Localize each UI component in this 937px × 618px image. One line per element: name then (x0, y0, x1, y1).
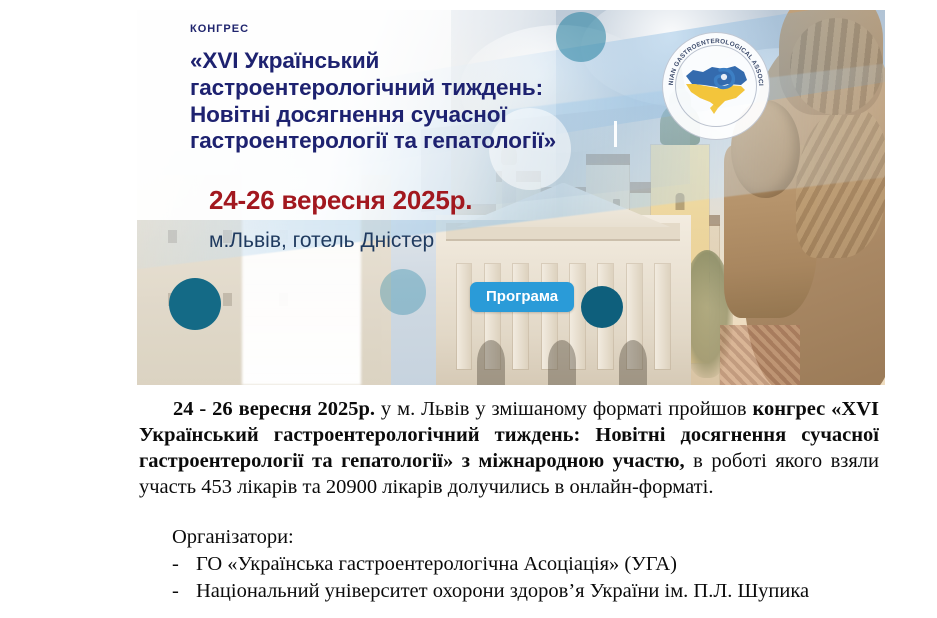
organizers-section: Організатори: -ГО «Українська гастроенте… (0, 524, 937, 605)
paragraph-bold-run: 24 - 26 вересня 2025р. (173, 398, 375, 420)
organizer-name: ГО «Українська гастроентерологічна Асоці… (196, 551, 937, 578)
teal-circle-translucent (380, 269, 426, 315)
congress-banner[interactable]: UKRAINIAN GASTROENTEROLOGICAL ASSOCIATIO… (137, 10, 885, 385)
banner-kicker: КОНГРЕС (190, 23, 249, 35)
paragraph-text-run: у м. Львів у змішаному форматі пройшов (375, 398, 752, 420)
document-body: 24 - 26 вересня 2025р. у м. Львів у зміш… (0, 396, 937, 605)
report-paragraph: 24 - 26 вересня 2025р. у м. Львів у зміш… (0, 396, 937, 500)
teal-circle-solid (581, 286, 623, 328)
banner-headline: «XVI Український гастроентерологічний ти… (190, 48, 770, 155)
organizers-title: Організатори: (172, 524, 937, 551)
organizer-name: Національний університет охорони здоров’… (196, 578, 937, 605)
document-page: UKRAINIAN GASTROENTEROLOGICAL ASSOCIATIO… (0, 0, 937, 618)
organizer-item: -Національний університет охорони здоров… (172, 578, 937, 605)
banner-dateline: 24-26 вересня 2025р. (209, 185, 472, 216)
organizer-item: -ГО «Українська гастроентерологічна Асоц… (172, 551, 937, 578)
organizers-list: -ГО «Українська гастроентерологічна Асоц… (172, 551, 937, 605)
list-dash: - (172, 578, 180, 605)
program-button[interactable]: Програма (470, 282, 574, 312)
list-dash: - (172, 551, 180, 578)
teal-circle-solid (169, 278, 221, 330)
banner-venue: м.Львів, готель Дністер (209, 229, 434, 253)
